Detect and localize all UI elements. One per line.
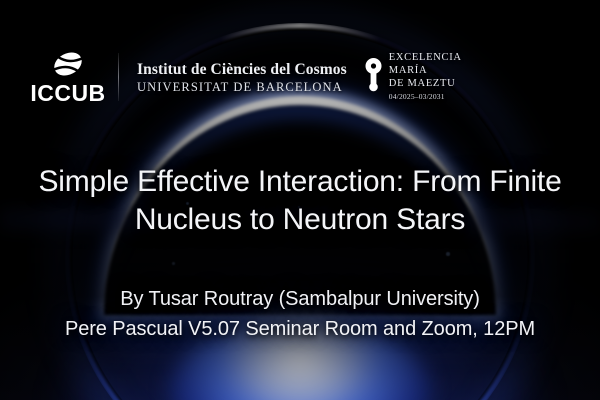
speaker-line: By Tusar Routray (Sambalpur University) (10, 284, 590, 314)
iccub-acronym: ICCUB (30, 82, 105, 105)
page-title: Simple Effective Interaction: From Finit… (0, 163, 600, 238)
maria-de-maeztu-badge: EXCELENCIA MARÍA DE MAEZTU 04/2025–03/20… (365, 52, 462, 101)
institute-block: Institut de Ciències del Cosmos UNIVERSI… (137, 61, 347, 96)
institute-name: Institut de Ciències del Cosmos (137, 61, 347, 79)
galaxy-swirl-icon (46, 49, 90, 79)
maeztu-date-range: 04/2025–03/2031 (389, 92, 462, 102)
maeztu-key-icon (365, 57, 382, 97)
maeztu-text-block: EXCELENCIA MARÍA DE MAEZTU 04/2025–03/20… (389, 52, 462, 101)
event-details: By Tusar Routray (Sambalpur University) … (0, 284, 600, 345)
event-poster: ICCUB Institut de Ciències del Cosmos UN… (0, 0, 600, 400)
venue-line: Pere Pascual V5.07 Seminar Room and Zoom… (10, 314, 590, 344)
header-divider (118, 53, 119, 101)
maeztu-line-3: DE MAEZTU (389, 78, 462, 91)
poster-header: ICCUB Institut de Ciències del Cosmos UN… (0, 44, 600, 110)
poster-content: ICCUB Institut de Ciències del Cosmos UN… (0, 0, 600, 400)
institute-university: UNIVERSITAT DE BARCELONA (137, 80, 347, 95)
title-line-1: Simple Effective Interaction: From Finit… (38, 165, 561, 198)
maeztu-line-2: MARÍA (389, 65, 462, 78)
title-line-2: Nucleus to Neutron Stars (135, 203, 465, 236)
maeztu-line-1: EXCELENCIA (389, 52, 462, 65)
iccub-logo: ICCUB (22, 49, 114, 105)
